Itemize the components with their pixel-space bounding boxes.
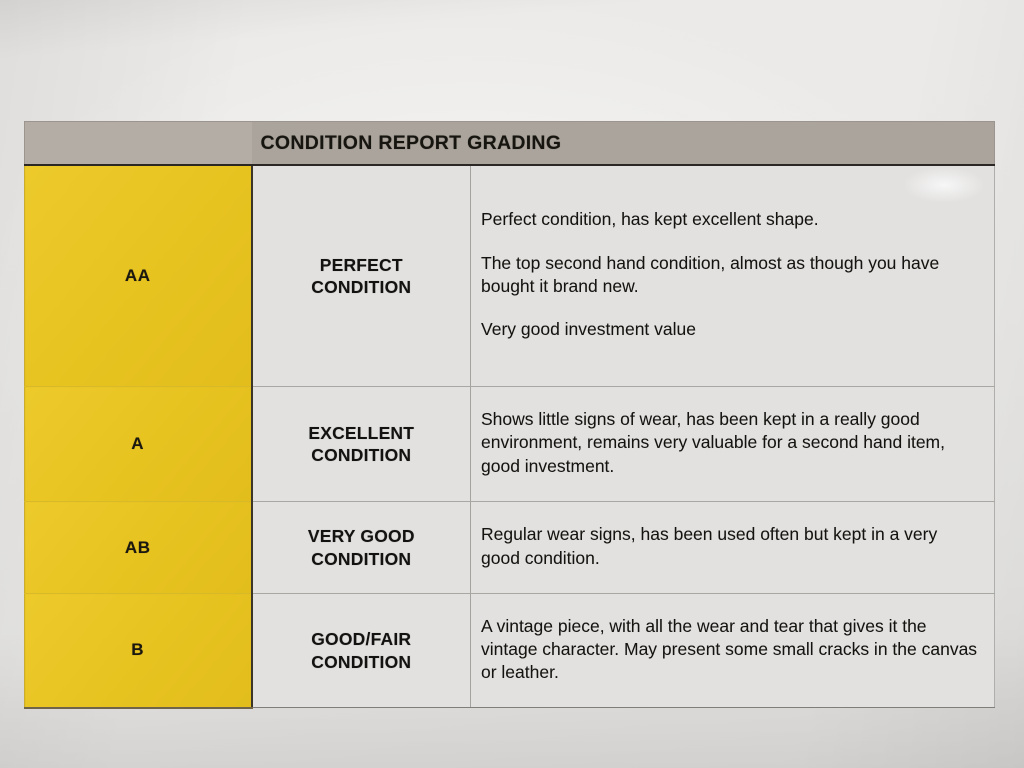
grade-cell-b: B bbox=[25, 594, 252, 708]
description-cell-b: A vintage piece, with all the wear and t… bbox=[471, 594, 995, 708]
description-paragraph: Regular wear signs, has been used often … bbox=[481, 523, 980, 570]
condition-title-cell-ab: VERY GOOD CONDITION bbox=[252, 502, 471, 594]
header-title-cell: CONDITION REPORT GRADING bbox=[252, 122, 995, 166]
condition-title-cell-b: GOOD/FAIR CONDITION bbox=[252, 594, 471, 708]
condition-title-line2: CONDITION bbox=[261, 444, 463, 466]
condition-title-line2: CONDITION bbox=[261, 651, 463, 673]
description-paragraph: Very good investment value bbox=[481, 318, 980, 341]
condition-title-line1: VERY GOOD bbox=[261, 525, 463, 547]
grade-cell-ab: AB bbox=[25, 502, 252, 594]
condition-title-line1: GOOD/FAIR bbox=[261, 628, 463, 650]
table-header-row: CONDITION REPORT GRADING bbox=[25, 122, 995, 166]
condition-title-line2: CONDITION bbox=[261, 548, 463, 570]
condition-title-line2: CONDITION bbox=[261, 276, 463, 298]
table-row: A EXCELLENT CONDITION Shows little signs… bbox=[25, 387, 995, 502]
description-paragraph: The top second hand condition, almost as… bbox=[481, 252, 980, 299]
table-row: AB VERY GOOD CONDITION Regular wear sign… bbox=[25, 502, 995, 594]
condition-grading-table: CONDITION REPORT GRADING AA PERFECT COND… bbox=[24, 121, 995, 709]
grade-label: AB bbox=[125, 538, 151, 557]
condition-title-line1: PERFECT bbox=[261, 254, 463, 276]
grade-label: A bbox=[131, 434, 144, 453]
description-paragraph: A vintage piece, with all the wear and t… bbox=[481, 615, 980, 685]
condition-title-cell-a: EXCELLENT CONDITION bbox=[252, 387, 471, 502]
table-body: AA PERFECT CONDITION Perfect condition, … bbox=[25, 165, 995, 708]
description-cell-aa: Perfect condition, has kept excellent sh… bbox=[471, 165, 995, 387]
grade-label: AA bbox=[125, 266, 151, 285]
grade-cell-aa: AA bbox=[25, 165, 252, 387]
table-row: B GOOD/FAIR CONDITION A vintage piece, w… bbox=[25, 594, 995, 708]
grade-cell-a: A bbox=[25, 387, 252, 502]
table-row: AA PERFECT CONDITION Perfect condition, … bbox=[25, 165, 995, 387]
condition-title-line1: EXCELLENT bbox=[261, 422, 463, 444]
description-cell-a: Shows little signs of wear, has been kep… bbox=[471, 387, 995, 502]
page-title: CONDITION REPORT GRADING bbox=[261, 132, 562, 154]
description-cell-ab: Regular wear signs, has been used often … bbox=[471, 502, 995, 594]
description-paragraph: Shows little signs of wear, has been kep… bbox=[481, 408, 980, 478]
description-paragraph: Perfect condition, has kept excellent sh… bbox=[481, 208, 980, 231]
grade-label: B bbox=[131, 640, 144, 659]
condition-title-cell-aa: PERFECT CONDITION bbox=[252, 165, 471, 387]
condition-grading-table-container: CONDITION REPORT GRADING AA PERFECT COND… bbox=[24, 121, 995, 709]
header-spacer-cell bbox=[25, 122, 252, 166]
